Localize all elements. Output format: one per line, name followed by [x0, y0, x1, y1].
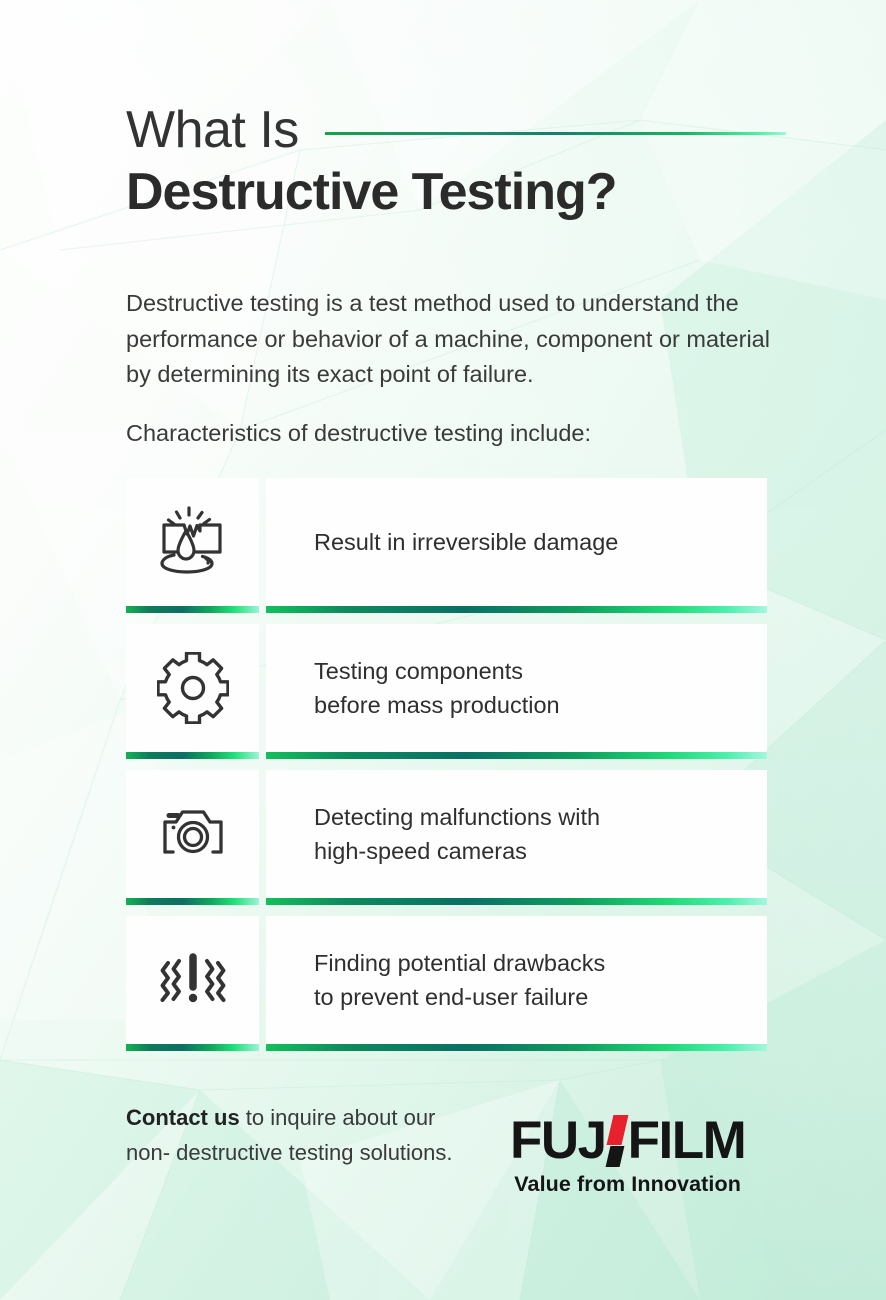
card-text-column: Finding potential drawbacks to prevent e… [266, 916, 767, 1051]
card-accent-bar-text [266, 606, 767, 613]
card-accent-bar-icon [126, 752, 259, 759]
title-line-2: Destructive Testing? [126, 160, 786, 225]
card-icon-panel [126, 478, 259, 606]
card-icon-panel [126, 624, 259, 752]
card-accent-bar-icon [126, 606, 259, 613]
intro-paragraph-1: Destructive testing is a test method use… [126, 286, 786, 393]
infographic-root: What Is Destructive Testing? Destructive… [0, 0, 886, 1300]
card-accent-bar-text [266, 898, 767, 905]
card-label-line: Finding potential drawbacks [314, 946, 605, 980]
card-item: Detecting malfunctions with high-speed c… [126, 770, 767, 905]
card-accent-bar-text [266, 1044, 767, 1051]
card-icon-panel [126, 916, 259, 1044]
card-label: Finding potential drawbacks to prevent e… [314, 946, 605, 1014]
fujifilm-wordmark: FUJ FILM [510, 1114, 745, 1167]
page-title: What Is Destructive Testing? [126, 104, 786, 225]
logo-text-film: FILM [628, 1114, 746, 1167]
card-label: Testing components before mass productio… [314, 654, 560, 722]
card-label-line: high-speed cameras [314, 834, 600, 868]
footer: Contact us to inquire about our non- des… [126, 1100, 786, 1197]
intro-block: Destructive testing is a test method use… [126, 286, 786, 451]
card-accent-bar-icon [126, 898, 259, 905]
fujifilm-logo: FUJ FILM Value from Innovation [510, 1114, 745, 1197]
logo-red-slash-icon [606, 1115, 628, 1145]
title-line-1: What Is [126, 104, 299, 156]
card-text-column: Testing components before mass productio… [266, 624, 767, 759]
card-item: Testing components before mass productio… [126, 624, 767, 759]
logo-tagline: Value from Innovation [510, 1172, 745, 1197]
vibration-alert-icon [157, 949, 229, 1011]
card-label-line: before mass production [314, 688, 560, 722]
card-text-panel: Result in irreversible damage [266, 478, 767, 606]
card-text-column: Detecting malfunctions with high-speed c… [266, 770, 767, 905]
gear-icon [157, 652, 229, 724]
card-label: Result in irreversible damage [314, 525, 618, 559]
cracked-screen-droplet-icon [156, 505, 230, 579]
card-accent-bar-icon [126, 1044, 259, 1051]
card-text-panel: Finding potential drawbacks to prevent e… [266, 916, 767, 1044]
gradient-rule-icon [325, 132, 786, 135]
contact-cta-bold[interactable]: Contact us [126, 1105, 240, 1130]
card-icon-column [126, 770, 259, 905]
card-text-panel: Testing components before mass productio… [266, 624, 767, 752]
logo-i-accent-icon [607, 1114, 626, 1167]
card-icon-column [126, 916, 259, 1051]
title-first-row: What Is [126, 104, 786, 156]
card-icon-column [126, 478, 259, 613]
characteristics-list: Result in irreversible damage [126, 478, 767, 1051]
card-label-line: Detecting malfunctions with [314, 800, 600, 834]
card-icon-column [126, 624, 259, 759]
card-label-line: Result in irreversible damage [314, 525, 618, 559]
card-text-panel: Detecting malfunctions with high-speed c… [266, 770, 767, 898]
card-label: Detecting malfunctions with high-speed c… [314, 800, 600, 868]
intro-paragraph-2: Characteristics of destructive testing i… [126, 416, 786, 452]
card-item: Result in irreversible damage [126, 478, 767, 613]
card-label-line: to prevent end-user failure [314, 980, 605, 1014]
card-accent-bar-text [266, 752, 767, 759]
card-icon-panel [126, 770, 259, 898]
card-item: Finding potential drawbacks to prevent e… [126, 916, 767, 1051]
card-text-column: Result in irreversible damage [266, 478, 767, 613]
contact-cta: Contact us to inquire about our non- des… [126, 1100, 456, 1170]
logo-black-stem-icon [605, 1146, 624, 1167]
camera-icon [156, 801, 230, 867]
card-label-line: Testing components [314, 654, 560, 688]
logo-text-fuj: FUJ [510, 1114, 606, 1167]
